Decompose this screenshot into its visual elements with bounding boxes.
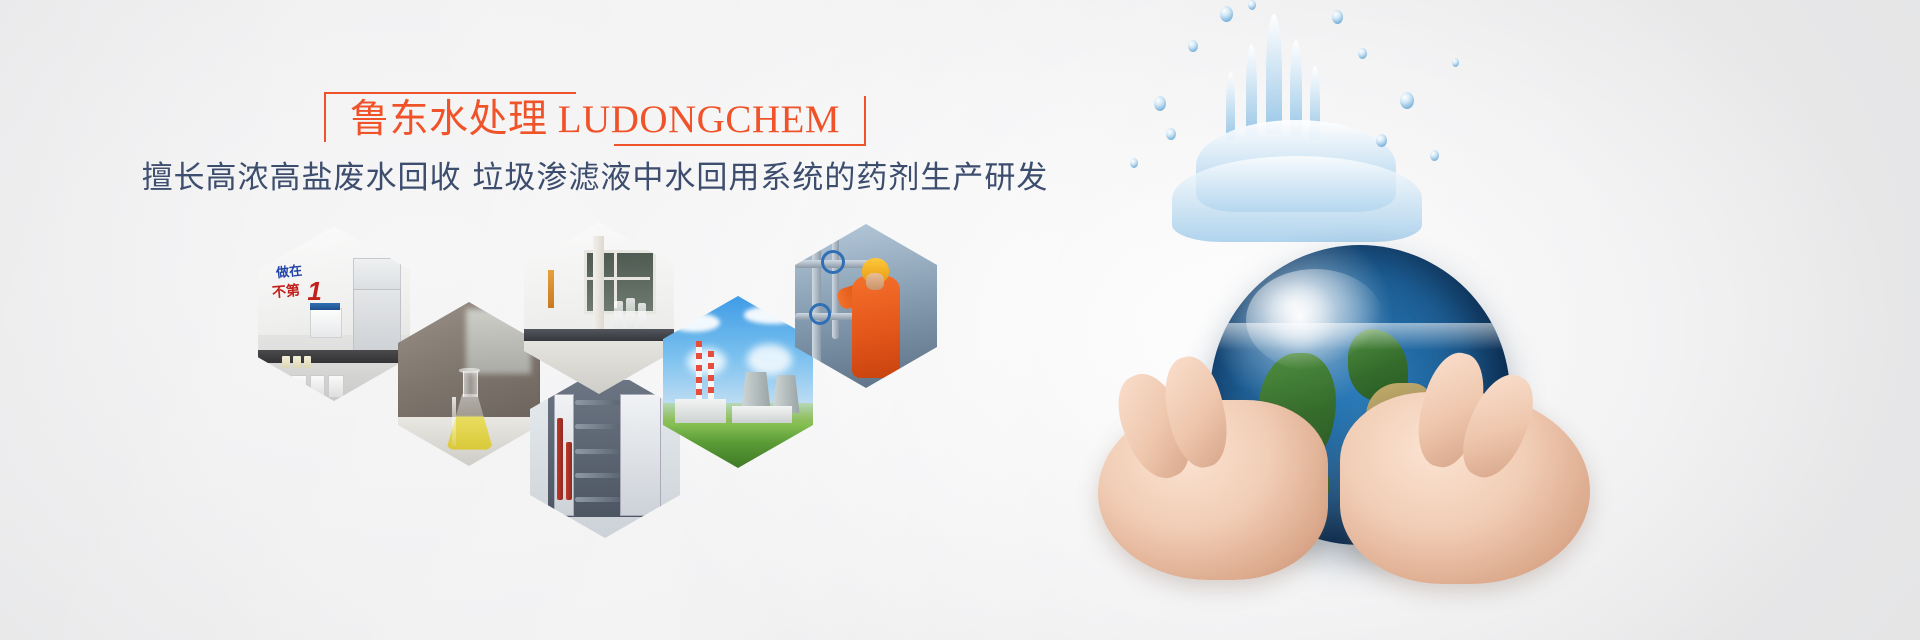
water-globe-artwork: [1040, 0, 1920, 640]
hex-power-plant[interactable]: [663, 296, 813, 468]
hex-lab-window[interactable]: [524, 222, 674, 394]
wall-slogan-line1: 做在: [275, 260, 303, 282]
wall-slogan: 做在 不第 1: [272, 261, 336, 307]
promo-banner: 鲁东水处理 LUDONGCHEM 擅长高浓高盐废水回收 垃圾渗滤液中水回用系统的…: [0, 0, 1920, 640]
hex-worker[interactable]: [795, 224, 937, 388]
wall-slogan-line2: 不第: [271, 280, 301, 302]
wall-slogan-number: 1: [307, 276, 321, 307]
hexagon-photo-cluster: 做在 不第 1: [0, 0, 1000, 640]
hex-lab-slogan[interactable]: 做在 不第 1: [258, 226, 410, 401]
hex-flask[interactable]: [398, 302, 540, 466]
hex-membrane-skid[interactable]: [530, 366, 680, 538]
